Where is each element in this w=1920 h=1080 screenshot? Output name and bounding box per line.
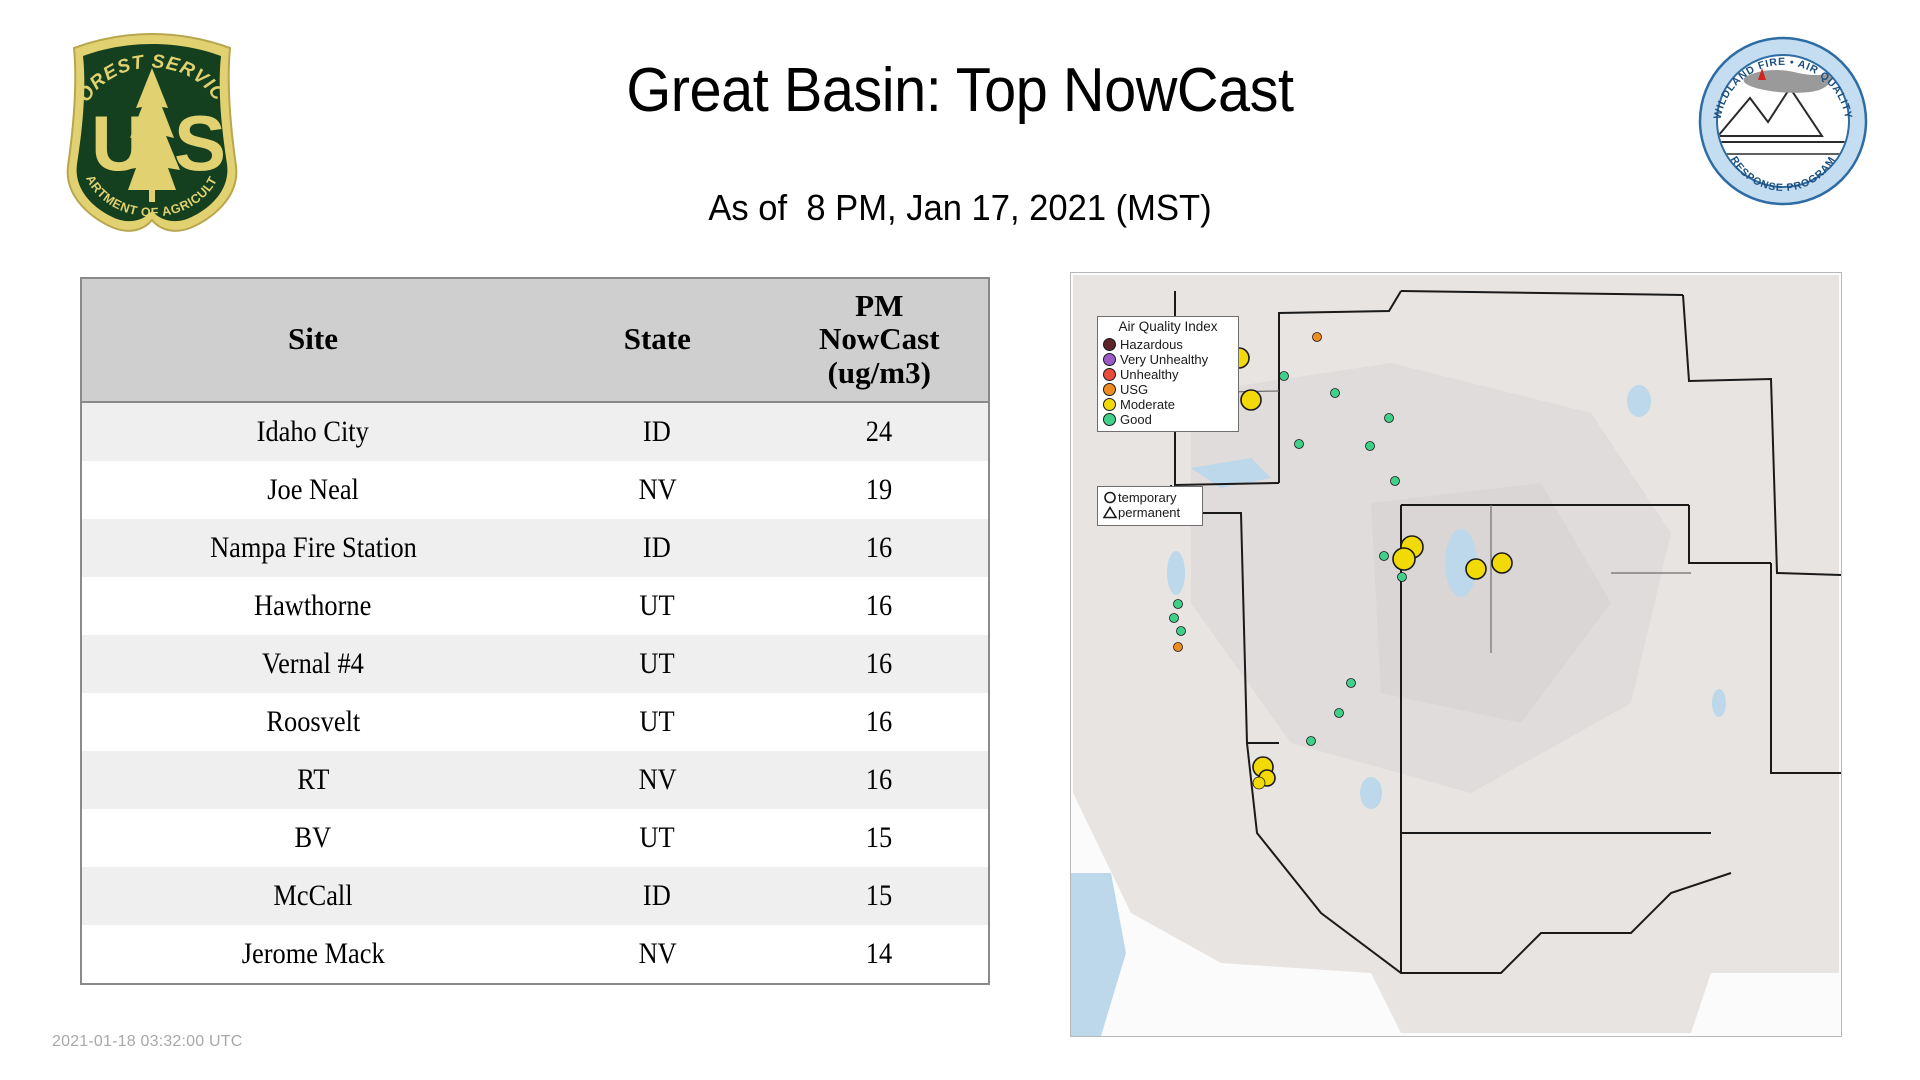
table-cell-site: Nampa Fire Station	[82, 519, 544, 577]
column-header-pm-nowcast: PM NowCast (ug/m3)	[771, 279, 988, 402]
aqi-legend-title: Air Quality Index	[1103, 320, 1233, 335]
monitor-marker[interactable]	[1380, 552, 1389, 561]
table-cell-state: NV	[544, 461, 771, 519]
triangle-marker-icon	[1102, 505, 1118, 520]
aqi-legend-swatch-icon	[1103, 383, 1116, 396]
column-header-pm-line1: PM	[771, 289, 988, 322]
aqi-legend-row: Hazardous	[1103, 337, 1233, 352]
lake-northeast	[1627, 385, 1651, 417]
table-cell-value-text: 24	[866, 417, 892, 447]
column-header-pm-line3: (ug/m3)	[771, 356, 988, 389]
aqi-legend: Air Quality Index HazardousVery Unhealth…	[1097, 316, 1239, 432]
aqi-legend-swatch-icon	[1103, 398, 1116, 411]
table-cell-state: NV	[544, 925, 771, 983]
column-header-state: State	[544, 279, 771, 402]
table-cell-value: 15	[771, 809, 988, 867]
table-cell-value: 16	[771, 519, 988, 577]
table-cell-value: 16	[771, 635, 988, 693]
table-cell-state: UT	[544, 577, 771, 635]
table-cell-value-text: 16	[866, 591, 892, 621]
aqi-legend-row: Unhealthy	[1103, 367, 1233, 382]
table-row: RoosveltUT16	[82, 693, 988, 751]
monitor-marker[interactable]	[1366, 442, 1375, 451]
table-row: HawthorneUT16	[82, 577, 988, 635]
page-subtitle: As of 8 PM, Jan 17, 2021 (MST)	[38, 190, 1881, 226]
aqi-legend-row: Very Unhealthy	[1103, 352, 1233, 367]
table-cell-site-text: McCall	[273, 881, 352, 911]
monitor-marker[interactable]	[1295, 440, 1304, 449]
table-row: Vernal #4UT16	[82, 635, 988, 693]
table-cell-state-text: NV	[638, 765, 676, 795]
monitor-marker[interactable]	[1398, 573, 1407, 582]
column-header-pm-line2: NowCast	[771, 322, 988, 355]
monitor-marker[interactable]	[1241, 390, 1261, 410]
column-header-state-label: State	[544, 322, 771, 355]
wfaqrp-program-logo: WILDLAND FIRE • AIR QUALITY RESPONSE PRO…	[1698, 36, 1868, 206]
table-header: Site State PM NowCast (ug/m3)	[82, 279, 988, 402]
table-cell-state-text: NV	[638, 475, 676, 505]
table-cell-value: 19	[771, 461, 988, 519]
table-row: McCallID15	[82, 867, 988, 925]
table-row: Jerome MackNV14	[82, 925, 988, 983]
lake-east	[1712, 689, 1726, 717]
table-header-row: Site State PM NowCast (ug/m3)	[82, 279, 988, 402]
aqi-legend-row: USG	[1103, 382, 1233, 397]
monitor-marker[interactable]	[1170, 614, 1179, 623]
nowcast-table-container: Site State PM NowCast (ug/m3) Idaho City…	[80, 277, 990, 985]
aqi-legend-label: Very Unhealthy	[1120, 352, 1208, 367]
table-cell-state: UT	[544, 635, 771, 693]
circle-marker-icon	[1102, 490, 1118, 505]
aqi-legend-row: Good	[1103, 412, 1233, 427]
monitor-marker[interactable]	[1174, 643, 1183, 652]
table-cell-state-text: UT	[640, 649, 675, 679]
table-cell-state: NV	[544, 751, 771, 809]
table-cell-site: Vernal #4	[82, 635, 544, 693]
table-cell-value: 24	[771, 402, 988, 461]
table-cell-state-text: NV	[638, 939, 676, 969]
nowcast-table: Site State PM NowCast (ug/m3) Idaho City…	[82, 279, 988, 983]
table-row: RTNV16	[82, 751, 988, 809]
table-cell-value-text: 16	[866, 533, 892, 563]
monitor-marker[interactable]	[1177, 627, 1186, 636]
marker-legend-row-permanent: permanent	[1102, 505, 1198, 520]
table-body: Idaho CityID24Joe NealNV19Nampa Fire Sta…	[82, 402, 988, 983]
lake-south	[1360, 777, 1382, 809]
table-cell-state: UT	[544, 693, 771, 751]
monitor-marker[interactable]	[1385, 414, 1394, 423]
table-cell-site: BV	[82, 809, 544, 867]
aqi-legend-label: Moderate	[1120, 397, 1175, 412]
monitor-marker[interactable]	[1313, 333, 1322, 342]
monitor-marker[interactable]	[1307, 737, 1316, 746]
table-cell-site: McCall	[82, 867, 544, 925]
lake-west	[1167, 551, 1185, 595]
table-cell-site: Joe Neal	[82, 461, 544, 519]
table-row: BVUT15	[82, 809, 988, 867]
aqi-legend-swatch-icon	[1103, 338, 1116, 351]
table-row: Joe NealNV19	[82, 461, 988, 519]
table-cell-state-text: UT	[640, 707, 675, 737]
aqi-legend-label: USG	[1120, 382, 1148, 397]
monitor-marker[interactable]	[1393, 548, 1415, 570]
table-cell-value-text: 14	[866, 939, 892, 969]
monitor-marker[interactable]	[1335, 709, 1344, 718]
aqi-legend-label: Good	[1120, 412, 1152, 427]
aqi-legend-swatch-icon	[1103, 413, 1116, 426]
monitor-marker[interactable]	[1466, 559, 1486, 579]
aqi-legend-label: Unhealthy	[1120, 367, 1179, 382]
table-cell-state: ID	[544, 402, 771, 461]
footer-timestamp: 2021-01-18 03:32:00 UTC	[52, 1033, 243, 1051]
table-cell-site-text: Jerome Mack	[242, 939, 385, 969]
marker-legend-label-temporary: temporary	[1118, 490, 1177, 505]
aqi-legend-row: Moderate	[1103, 397, 1233, 412]
table-cell-site-text: Idaho City	[257, 417, 369, 447]
table-cell-value-text: 15	[866, 823, 892, 853]
table-cell-value: 14	[771, 925, 988, 983]
table-cell-state: UT	[544, 809, 771, 867]
table-cell-state-text: ID	[643, 533, 671, 563]
monitor-marker[interactable]	[1253, 777, 1265, 789]
table-cell-site-text: Joe Neal	[267, 475, 359, 505]
table-cell-value-text: 19	[866, 475, 892, 505]
table-cell-site-text: Roosvelt	[266, 707, 360, 737]
column-header-site: Site	[82, 279, 544, 402]
table-cell-value: 16	[771, 751, 988, 809]
page-title: Great Basin: Top NowCast	[67, 60, 1853, 122]
great-basin-map-panel[interactable]: Air Quality Index HazardousVery Unhealth…	[1070, 272, 1842, 1037]
monitor-marker[interactable]	[1347, 679, 1356, 688]
aqi-legend-items: HazardousVery UnhealthyUnhealthyUSGModer…	[1103, 337, 1233, 427]
table-cell-value-text: 16	[866, 707, 892, 737]
table-row: Idaho CityID24	[82, 402, 988, 461]
table-cell-site-text: BV	[295, 823, 332, 853]
table-cell-value-text: 16	[866, 765, 892, 795]
marker-type-legend: temporary permanent	[1097, 486, 1203, 526]
monitor-marker[interactable]	[1280, 372, 1289, 381]
column-header-site-label: Site	[82, 322, 544, 355]
table-cell-site: RT	[82, 751, 544, 809]
table-cell-site: Idaho City	[82, 402, 544, 461]
table-cell-site: Roosvelt	[82, 693, 544, 751]
table-cell-site: Hawthorne	[82, 577, 544, 635]
table-cell-state-text: ID	[643, 417, 671, 447]
table-cell-value: 16	[771, 693, 988, 751]
table-cell-state: ID	[544, 519, 771, 577]
table-cell-site-text: Hawthorne	[254, 591, 371, 621]
table-cell-state-text: ID	[643, 881, 671, 911]
monitor-marker[interactable]	[1174, 600, 1183, 609]
aqi-legend-swatch-icon	[1103, 353, 1116, 366]
marker-legend-label-permanent: permanent	[1118, 505, 1180, 520]
table-cell-value-text: 16	[866, 649, 892, 679]
monitor-marker[interactable]	[1391, 477, 1400, 486]
table-cell-value: 16	[771, 577, 988, 635]
table-row: Nampa Fire StationID16	[82, 519, 988, 577]
table-cell-state: ID	[544, 867, 771, 925]
aqi-legend-swatch-icon	[1103, 368, 1116, 381]
table-cell-state-text: UT	[640, 823, 675, 853]
table-cell-value: 15	[771, 867, 988, 925]
monitor-marker[interactable]	[1492, 553, 1512, 573]
table-cell-site-text: Nampa Fire Station	[210, 533, 417, 563]
table-cell-site: Jerome Mack	[82, 925, 544, 983]
aqi-legend-label: Hazardous	[1120, 337, 1183, 352]
table-cell-state-text: UT	[640, 591, 675, 621]
table-cell-site-text: RT	[297, 765, 329, 795]
table-cell-value-text: 15	[866, 881, 892, 911]
table-cell-site-text: Vernal #4	[262, 649, 364, 679]
monitor-marker[interactable]	[1331, 389, 1340, 398]
marker-legend-row-temporary: temporary	[1102, 490, 1198, 505]
